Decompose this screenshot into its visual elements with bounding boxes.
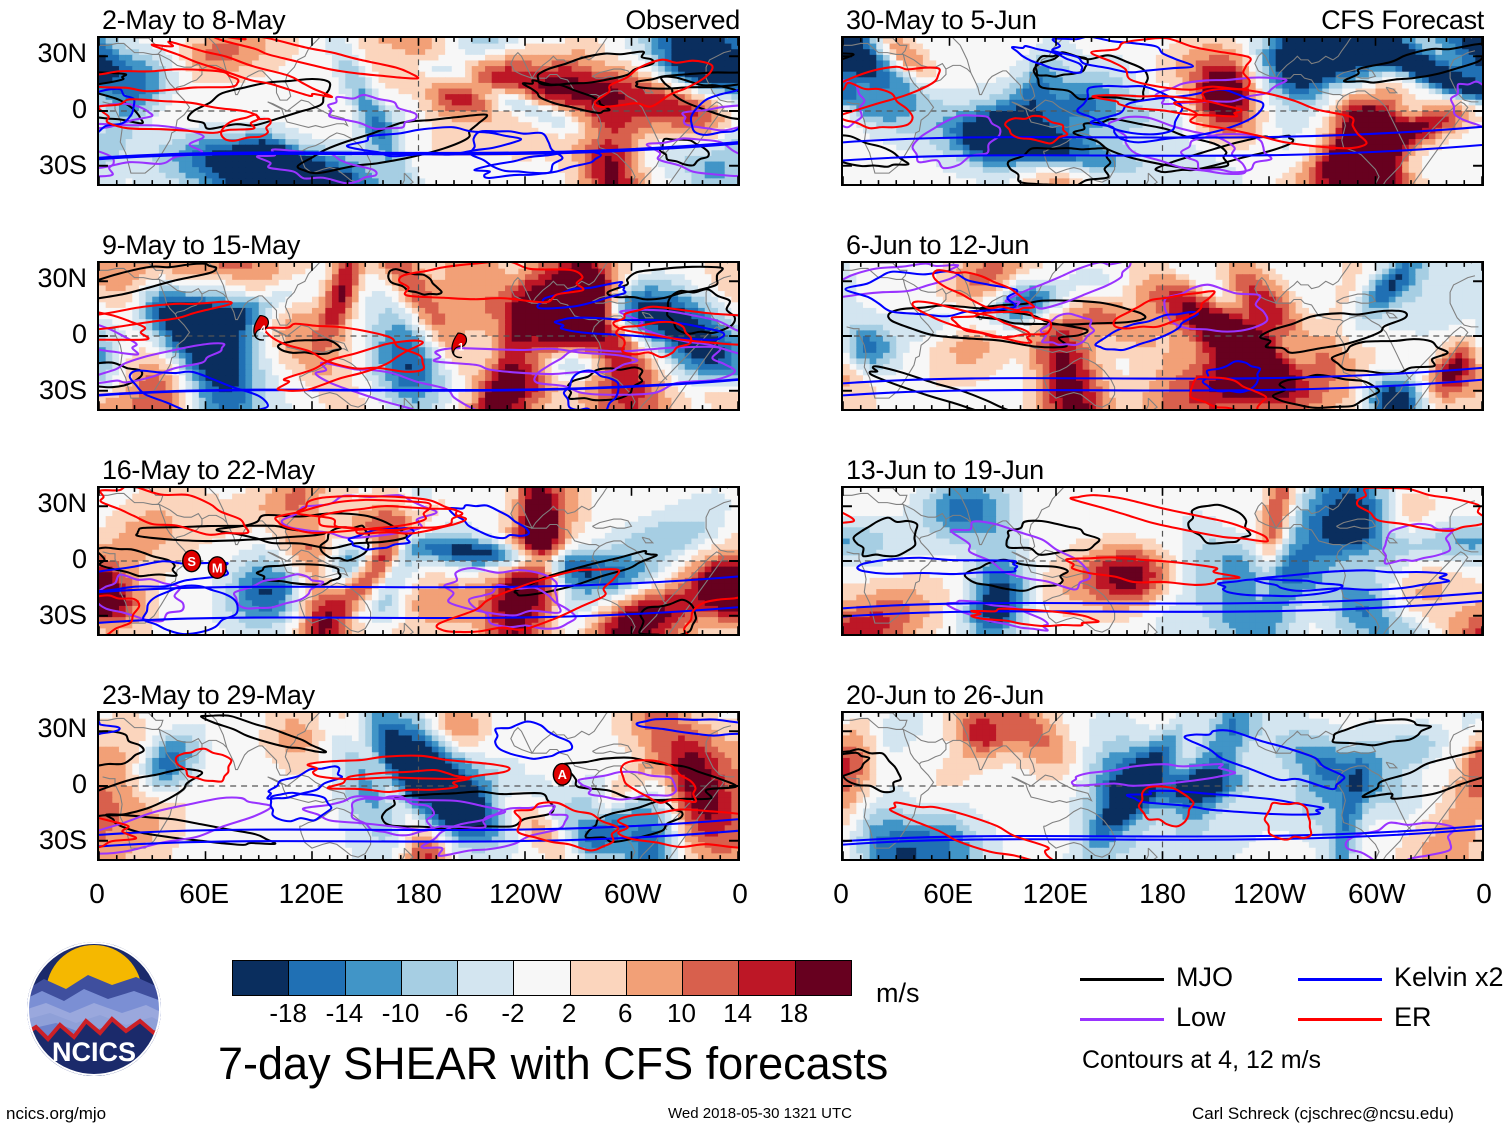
map-p3[interactable]: SM [97, 486, 740, 636]
ncics-logo-text: NCICS [52, 1037, 136, 1067]
x-tick-120e-observed-2: 120E [279, 878, 344, 910]
legend-label-kelvin: Kelvin x2 [1394, 962, 1504, 993]
panel-title-p2: 9-May to 15-May [102, 230, 300, 261]
colorbar-segment-9 [738, 961, 794, 995]
colorbar-segment-1 [288, 961, 344, 995]
colorbar-tick-9: 18 [779, 998, 808, 1029]
colorbar-tick-6: 6 [618, 998, 632, 1029]
x-tick-0-forecast-0: 0 [833, 878, 849, 910]
map-p7[interactable] [841, 486, 1484, 636]
colorbar-segment-4 [457, 961, 513, 995]
panel-title-p5: 30-May to 5-Jun [846, 5, 1037, 36]
panel-title-p6: 6-Jun to 12-Jun [846, 230, 1029, 261]
colorbar-segment-2 [345, 961, 401, 995]
panel-title-p8: 20-Jun to 26-Jun [846, 680, 1044, 711]
x-tick-0-observed-6: 0 [732, 878, 748, 910]
ncics-logo-graphic: NCICS [26, 941, 162, 1077]
y-axis-label-30n: 30N [1, 713, 87, 744]
contour-legend: MJO Kelvin x2 Low ER Contours at 4, 12 m… [1080, 962, 1500, 1072]
colorbar-tick-1: -14 [326, 998, 364, 1029]
y-axis-label-30s: 30S [1, 600, 87, 631]
y-axis-label-0: 0 [1, 94, 87, 125]
y-axis-label-30n: 30N [1, 38, 87, 69]
map-p1[interactable] [97, 36, 740, 186]
y-axis-label-30s: 30S [1, 825, 87, 856]
legend-swatch-low [1080, 1018, 1164, 1021]
legend-label-low: Low [1176, 1002, 1226, 1033]
legend-swatch-mjo [1080, 978, 1164, 981]
x-tick-60w-forecast-5: 60W [1348, 878, 1406, 910]
ncics-logo: NCICS [26, 941, 162, 1077]
legend-swatch-er [1298, 1018, 1382, 1021]
x-tick-180-observed-3: 180 [395, 878, 442, 910]
x-tick-60w-observed-5: 60W [604, 878, 662, 910]
colorbar-segment-8 [682, 961, 738, 995]
y-axis-label-30n: 30N [1, 488, 87, 519]
y-axis-label-30s: 30S [1, 150, 87, 181]
panel-title-p4: 23-May to 29-May [102, 680, 315, 711]
footer-left-link[interactable]: ncics.org/mjo [6, 1104, 106, 1124]
footer-author: Carl Schreck (cjschrec@ncsu.edu) [1192, 1104, 1454, 1124]
colorbar-units-label: m/s [876, 978, 920, 1009]
page-title: 7-day SHEAR with CFS forecasts [218, 1038, 888, 1090]
x-tick-120w-observed-4: 120W [489, 878, 562, 910]
panel-title-p3: 16-May to 22-May [102, 455, 315, 486]
colorbar-tick-3: -6 [445, 998, 468, 1029]
colorbar-tick-5: 2 [562, 998, 576, 1029]
panel-title-p1: 2-May to 8-May [102, 5, 285, 36]
colorbar-segment-5 [513, 961, 569, 995]
map-p2[interactable]: 41 [97, 261, 740, 411]
column-label-forecast: CFS Forecast [1284, 5, 1484, 36]
contour-interval-note: Contours at 4, 12 m/s [1082, 1046, 1321, 1075]
legend-label-er: ER [1394, 1002, 1432, 1033]
y-axis-label-0: 0 [1, 769, 87, 800]
x-tick-120w-forecast-4: 120W [1233, 878, 1306, 910]
x-axis-labels-forecast: 060E120E180120W60W0 [841, 878, 1484, 912]
y-axis-label-30s: 30S [1, 375, 87, 406]
footer-timestamp: Wed 2018-05-30 1321 UTC [668, 1105, 852, 1122]
colorbar-tick-7: 10 [667, 998, 696, 1029]
x-tick-0-forecast-6: 0 [1476, 878, 1492, 910]
map-p5[interactable] [841, 36, 1484, 186]
x-tick-0-observed-0: 0 [89, 878, 105, 910]
x-tick-60e-observed-1: 60E [179, 878, 229, 910]
y-axis-label-0: 0 [1, 319, 87, 350]
colorbar-segment-10 [795, 961, 851, 995]
legend-label-mjo: MJO [1176, 962, 1233, 993]
colorbar-segment-0 [233, 961, 288, 995]
colorbar-segment-6 [570, 961, 626, 995]
map-p6[interactable] [841, 261, 1484, 411]
colorbar-tick-0: -18 [269, 998, 307, 1029]
y-axis-label-0: 0 [1, 544, 87, 575]
column-label-observed: Observed [540, 5, 740, 36]
colorbar-tick-8: 14 [723, 998, 752, 1029]
legend-swatch-kelvin [1298, 978, 1382, 981]
map-p8[interactable] [841, 711, 1484, 861]
y-axis-label-30n: 30N [1, 263, 87, 294]
colorbar-strip [232, 960, 852, 996]
x-tick-60e-forecast-1: 60E [923, 878, 973, 910]
panel-title-p7: 13-Jun to 19-Jun [846, 455, 1044, 486]
colorbar-tick-4: -2 [501, 998, 524, 1029]
colorbar-tick-2: -10 [382, 998, 420, 1029]
colorbar: -18-14-10-6-226101418 [232, 960, 852, 1040]
x-axis-labels-observed: 060E120E180120W60W0 [97, 878, 740, 912]
x-tick-180-forecast-3: 180 [1139, 878, 1186, 910]
map-p4[interactable]: A [97, 711, 740, 861]
colorbar-segment-7 [626, 961, 682, 995]
x-tick-120e-forecast-2: 120E [1023, 878, 1088, 910]
colorbar-segment-3 [401, 961, 457, 995]
